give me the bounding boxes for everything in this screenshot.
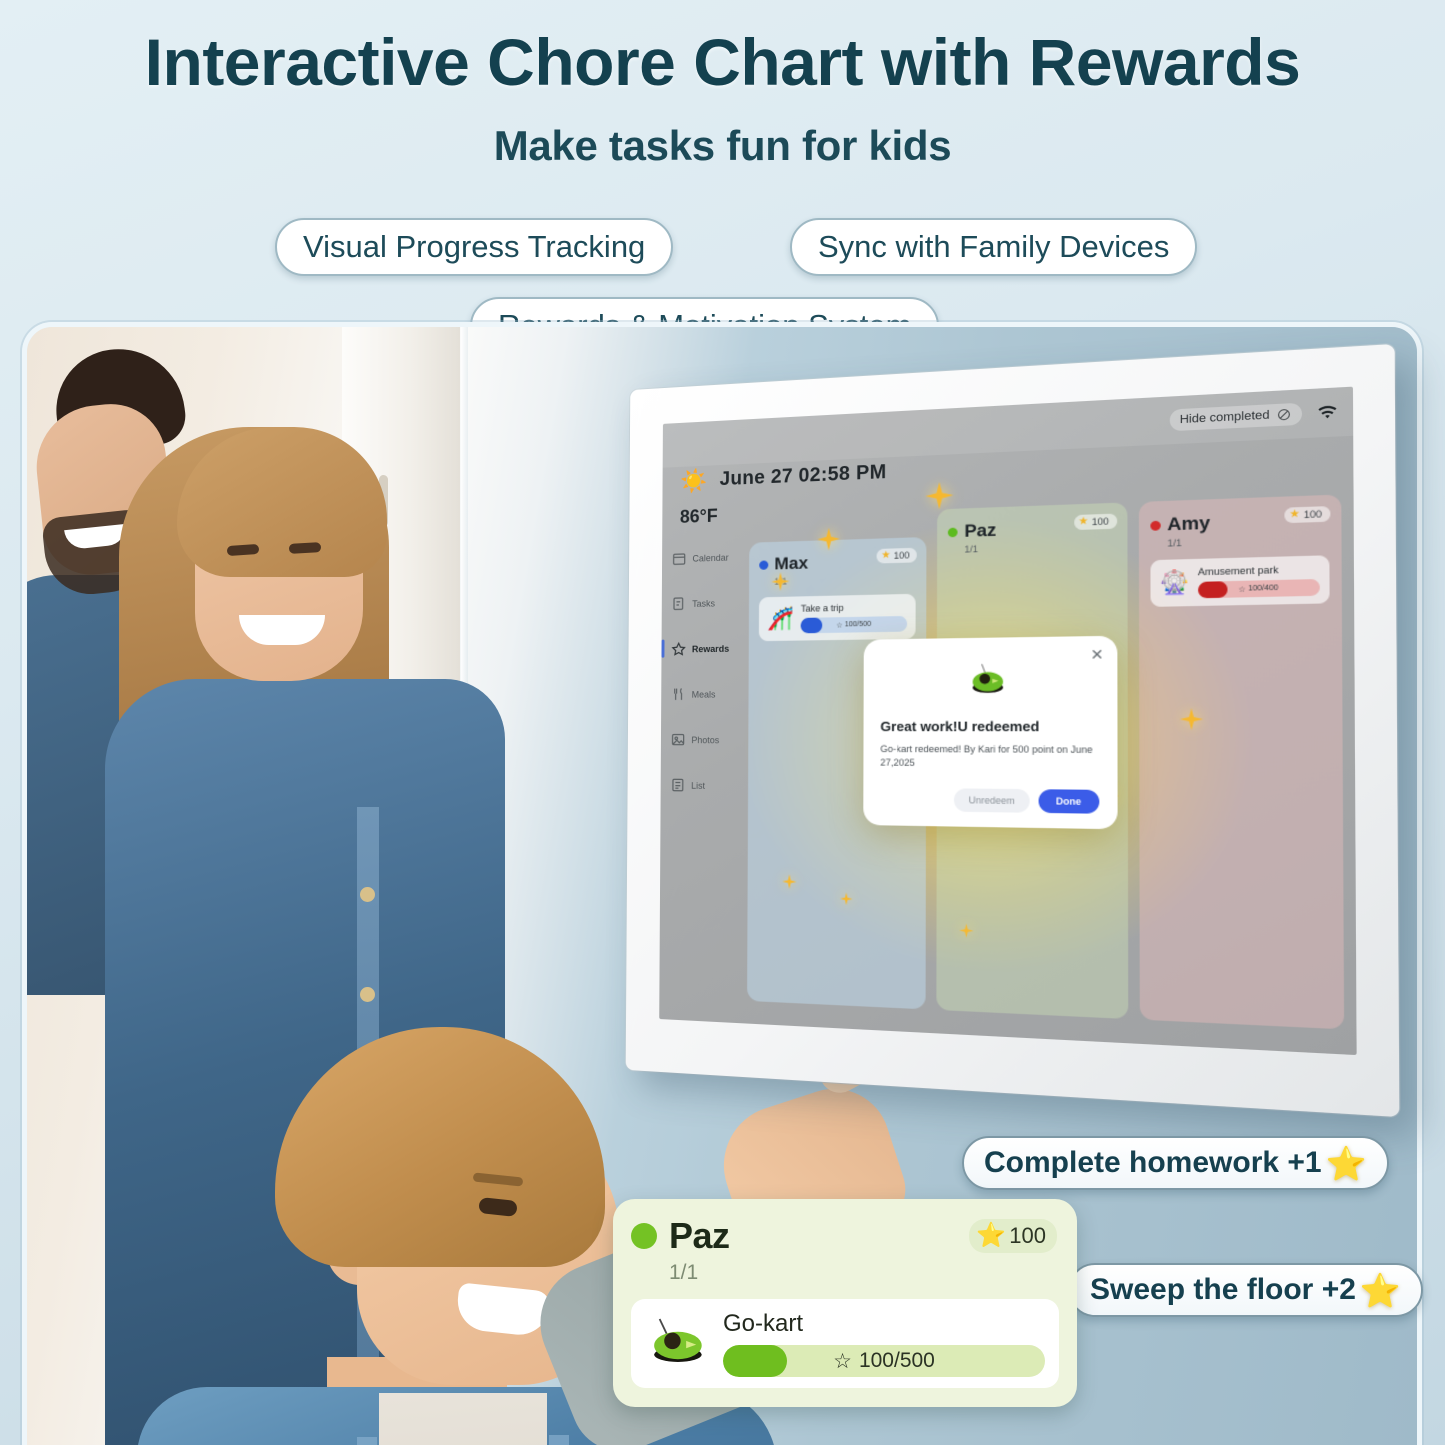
- sidebar-label-calendar: Calendar: [692, 552, 728, 563]
- star-icon: ☆: [836, 621, 843, 629]
- reward-progress-text-amy: ☆ 100/400: [1198, 579, 1320, 598]
- reward-progress-amy: ☆ 100/400: [1198, 579, 1320, 598]
- star-icon: ★: [881, 551, 890, 562]
- kid-color-dot-max: [759, 560, 768, 569]
- points-badge-paz: ★ 100: [1074, 514, 1117, 531]
- paz-points-value: 100: [1009, 1223, 1046, 1249]
- callout-complete-homework: Complete homework +1 ⭐: [962, 1136, 1389, 1190]
- paz-progress-text: ☆ 100/500: [723, 1345, 1045, 1377]
- go-kart-icon: [645, 1316, 709, 1371]
- points-badge-max: ★ 100: [877, 548, 917, 564]
- reward-progress-max: ☆ 100/500: [801, 616, 908, 633]
- tablet-screen[interactable]: Hide completed ☀️ June 27 02:58 PM 86°F: [659, 387, 1356, 1055]
- paz-reward-card[interactable]: ⭐ 100 Paz 1/1 Go-kart ☆ 100/500: [613, 1199, 1077, 1407]
- modal-actions: Unredeem Done: [880, 787, 1099, 813]
- sidebar-nav: Calendar Tasks Rewards: [670, 549, 745, 793]
- reward-name-amy: Amusement park: [1198, 563, 1320, 577]
- sun-weather-icon: ☀️: [680, 470, 707, 493]
- ferris-wheel-icon: 🎡: [1159, 571, 1189, 595]
- kid-fraction-max: 1/1: [774, 573, 916, 587]
- sparkle-icon: [925, 482, 953, 510]
- paz-card-name: Paz: [669, 1215, 730, 1257]
- temperature: 86°F: [680, 505, 718, 528]
- sidebar-item-rewards[interactable]: Rewards: [671, 640, 745, 656]
- mother-eye-right: [289, 542, 321, 554]
- modal-message: Go-kart redeemed! By Kari for 500 point …: [880, 742, 1099, 772]
- points-value-paz: 100: [1092, 516, 1109, 527]
- weather-row: June 27 02:58 PM: [720, 462, 887, 492]
- star-icon: ★: [1078, 517, 1088, 528]
- go-kart-icon: [880, 660, 1099, 702]
- points-value-amy: 100: [1304, 509, 1322, 521]
- done-button[interactable]: Done: [1038, 789, 1099, 814]
- sidebar-label-tasks: Tasks: [692, 598, 715, 609]
- kid-fraction-paz: 1/1: [964, 539, 1115, 554]
- star-icon: [671, 641, 686, 656]
- kid-color-dot-amy: [1150, 520, 1160, 530]
- photos-icon: [671, 732, 686, 747]
- calendar-icon: [672, 551, 687, 566]
- mother-shirt-button: [360, 887, 375, 902]
- hide-completed-label: Hide completed: [1180, 409, 1270, 427]
- points-value-max: 100: [894, 550, 910, 561]
- feature-pill-visual-progress: Visual Progress Tracking: [275, 218, 673, 276]
- paz-color-dot: [631, 1223, 657, 1249]
- mother-shirt-button: [360, 987, 375, 1002]
- star-icon: ⭐: [1360, 1274, 1401, 1307]
- points-badge-amy: ★ 100: [1284, 506, 1330, 523]
- close-icon[interactable]: ✕: [1090, 647, 1103, 662]
- eye-off-icon: [1277, 408, 1291, 422]
- paz-progress-bar: ☆ 100/500: [723, 1345, 1045, 1377]
- star-icon: ⭐: [976, 1224, 1006, 1248]
- meals-icon: [671, 687, 686, 702]
- reward-progress-text-max: ☆ 100/500: [801, 616, 908, 633]
- paz-card-fraction: 1/1: [669, 1261, 1059, 1285]
- page-title: Interactive Chore Chart with Rewards: [0, 28, 1445, 97]
- sidebar-item-photos[interactable]: Photos: [671, 732, 745, 747]
- star-icon: ⭐: [1326, 1147, 1367, 1180]
- kid-name-amy: Amy: [1167, 512, 1210, 535]
- kid-name-max: Max: [774, 553, 808, 574]
- paz-reward-name: Go-kart: [723, 1310, 1045, 1338]
- boy-jacket-placket-left: [357, 1437, 377, 1445]
- sidebar-label-rewards: Rewards: [692, 643, 729, 654]
- star-icon: ☆: [833, 1349, 852, 1374]
- tasks-icon: [672, 596, 687, 611]
- redeem-confirmation-modal: ✕ Great work!U redeemed Go-kart redeemed…: [863, 636, 1117, 830]
- sidebar-label-meals: Meals: [692, 689, 716, 699]
- sidebar-label-list: List: [691, 780, 705, 790]
- sidebar-label-photos: Photos: [691, 735, 719, 745]
- kid-name-paz: Paz: [964, 520, 996, 542]
- wifi-icon: [1316, 404, 1338, 421]
- kid-color-dot-paz: [948, 527, 958, 537]
- paz-reward-row[interactable]: Go-kart ☆ 100/500: [631, 1299, 1059, 1388]
- callout-label-sweep: Sweep the floor +2: [1090, 1273, 1356, 1307]
- callout-label-homework: Complete homework +1: [984, 1146, 1322, 1180]
- boy-tshirt: [379, 1393, 547, 1445]
- tablet-frame: Hide completed ☀️ June 27 02:58 PM 86°F: [626, 344, 1400, 1117]
- star-icon: ★: [1289, 509, 1300, 520]
- sidebar-item-list[interactable]: List: [670, 777, 744, 793]
- star-icon: ☆: [1238, 585, 1245, 594]
- feature-pill-sync-devices: Sync with Family Devices: [790, 218, 1197, 276]
- roller-coaster-icon: 🎢: [767, 608, 794, 630]
- page-subtitle: Make tasks fun for kids: [0, 122, 1445, 170]
- paz-points-badge: ⭐ 100: [969, 1219, 1057, 1253]
- date-time: June 27 02:58 PM: [720, 462, 887, 492]
- callout-sweep-floor: Sweep the floor +2 ⭐: [1068, 1263, 1423, 1317]
- reward-name-max: Take a trip: [801, 601, 908, 614]
- sidebar-item-meals[interactable]: Meals: [671, 686, 745, 702]
- reward-card-amy[interactable]: 🎡 Amusement park ☆ 100/400: [1150, 555, 1330, 607]
- reward-card-max[interactable]: 🎢 Take a trip ☆ 100/500: [759, 594, 916, 641]
- kid-column-amy[interactable]: ★ 100 Amy 1/1 🎡 Amusement park: [1138, 494, 1344, 1029]
- sidebar-item-tasks[interactable]: Tasks: [672, 595, 745, 612]
- screen-topbar: Hide completed: [663, 387, 1354, 468]
- sidebar-item-calendar[interactable]: Calendar: [672, 549, 745, 566]
- unredeem-button[interactable]: Unredeem: [954, 788, 1029, 812]
- wall-mounted-tablet: Hide completed ☀️ June 27 02:58 PM 86°F: [626, 344, 1400, 1117]
- kid-fraction-amy: 1/1: [1167, 533, 1329, 549]
- list-icon: [670, 777, 685, 792]
- modal-title: Great work!U redeemed: [880, 718, 1099, 734]
- hide-completed-toggle[interactable]: Hide completed: [1169, 403, 1302, 432]
- boy-jacket-placket-right: [549, 1435, 569, 1445]
